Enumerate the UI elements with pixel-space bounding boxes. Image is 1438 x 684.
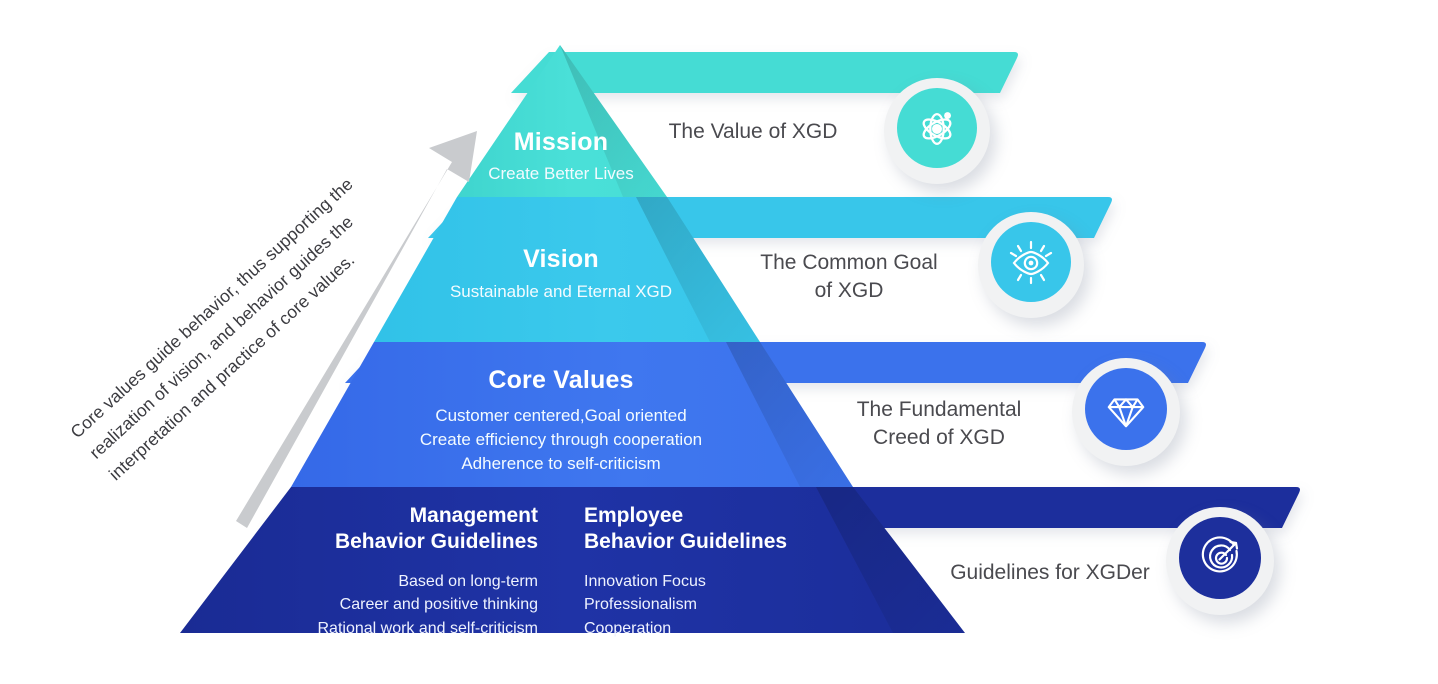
badge-mission: [884, 78, 990, 184]
callout-label-mission: The Value of XGD: [642, 118, 864, 146]
badge-core-values: [1072, 358, 1180, 466]
tier-behavior-guidelines: [180, 487, 965, 633]
callout-line: The Fundamental: [828, 396, 1050, 424]
badge-vision: [978, 212, 1084, 318]
atom-icon: [897, 88, 977, 168]
target-icon: [1179, 517, 1261, 599]
callout-line: of XGD: [740, 277, 958, 305]
badge-guidelines: [1166, 507, 1274, 615]
diamond-icon: [1085, 368, 1167, 450]
callout-label-guidelines: Guidelines for XGDer: [918, 559, 1182, 587]
tier-core-values: [291, 342, 853, 487]
callout-line: The Common Goal: [740, 249, 958, 277]
eye-icon: [991, 222, 1071, 302]
callout-line: Creed of XGD: [828, 424, 1050, 452]
callout-label-core-values: The Fundamental Creed of XGD: [828, 396, 1050, 451]
pyramid-diagram: Core values guide behavior, thus support…: [0, 0, 1438, 684]
callout-label-vision: The Common Goal of XGD: [740, 249, 958, 304]
